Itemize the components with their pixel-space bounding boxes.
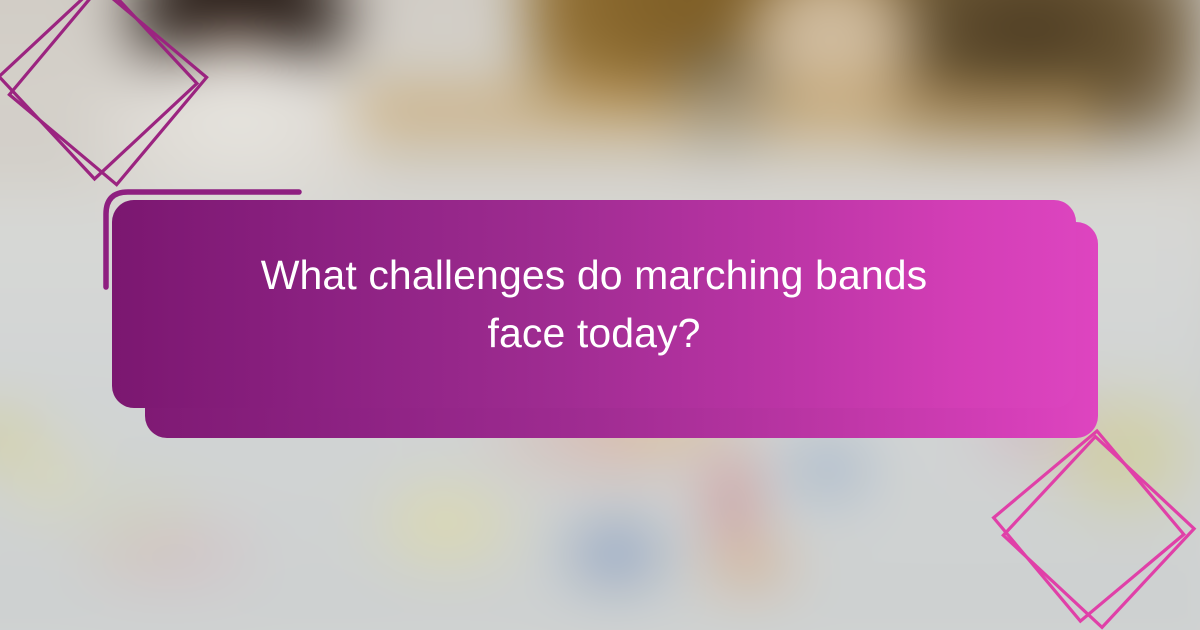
decoration-bottom-right xyxy=(975,425,1200,630)
headline-card-front-panel: What challenges do marching bands face t… xyxy=(112,200,1076,408)
question-card-screenshot: What challenges do marching bands face t… xyxy=(0,0,1200,630)
rotated-squares-icon xyxy=(975,425,1200,630)
page-title: What challenges do marching bands face t… xyxy=(224,246,964,362)
